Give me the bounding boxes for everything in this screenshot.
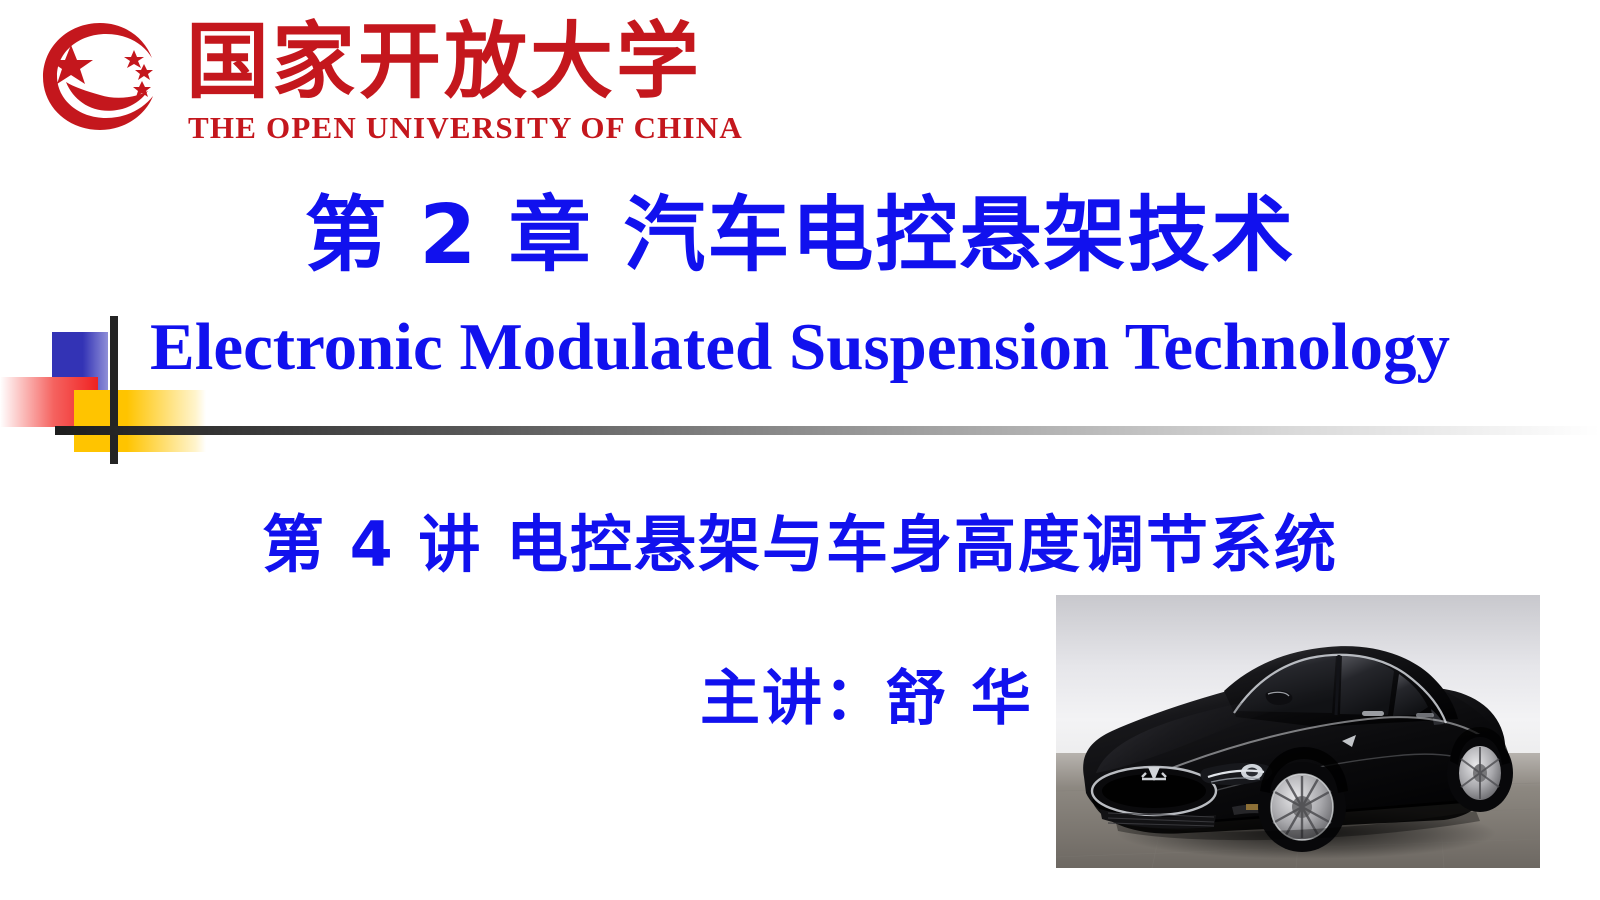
logo-chinese-name: 国家开放大学	[186, 18, 702, 106]
decorative-yellow-rectangle	[74, 390, 206, 452]
lecture-heading: 第 4 讲 电控悬架与车身高度调节系统	[0, 505, 1600, 585]
slide-title-chinese: 第 2 章 汽车电控悬架技术	[0, 186, 1600, 286]
presentation-slide: 国家开放大学 THE OPEN UNIVERSITY OF CHINA 第 2 …	[0, 0, 1600, 900]
open-university-of-china-emblem-icon	[38, 20, 166, 132]
car-photo	[1056, 595, 1540, 868]
university-logo: 国家开放大学 THE OPEN UNIVERSITY OF CHINA	[38, 14, 768, 142]
logo-english-name: THE OPEN UNIVERSITY OF CHINA	[188, 112, 743, 144]
decorative-horizontal-rule	[55, 426, 1600, 435]
slide-title-english: Electronic Modulated Suspension Technolo…	[0, 308, 1600, 386]
